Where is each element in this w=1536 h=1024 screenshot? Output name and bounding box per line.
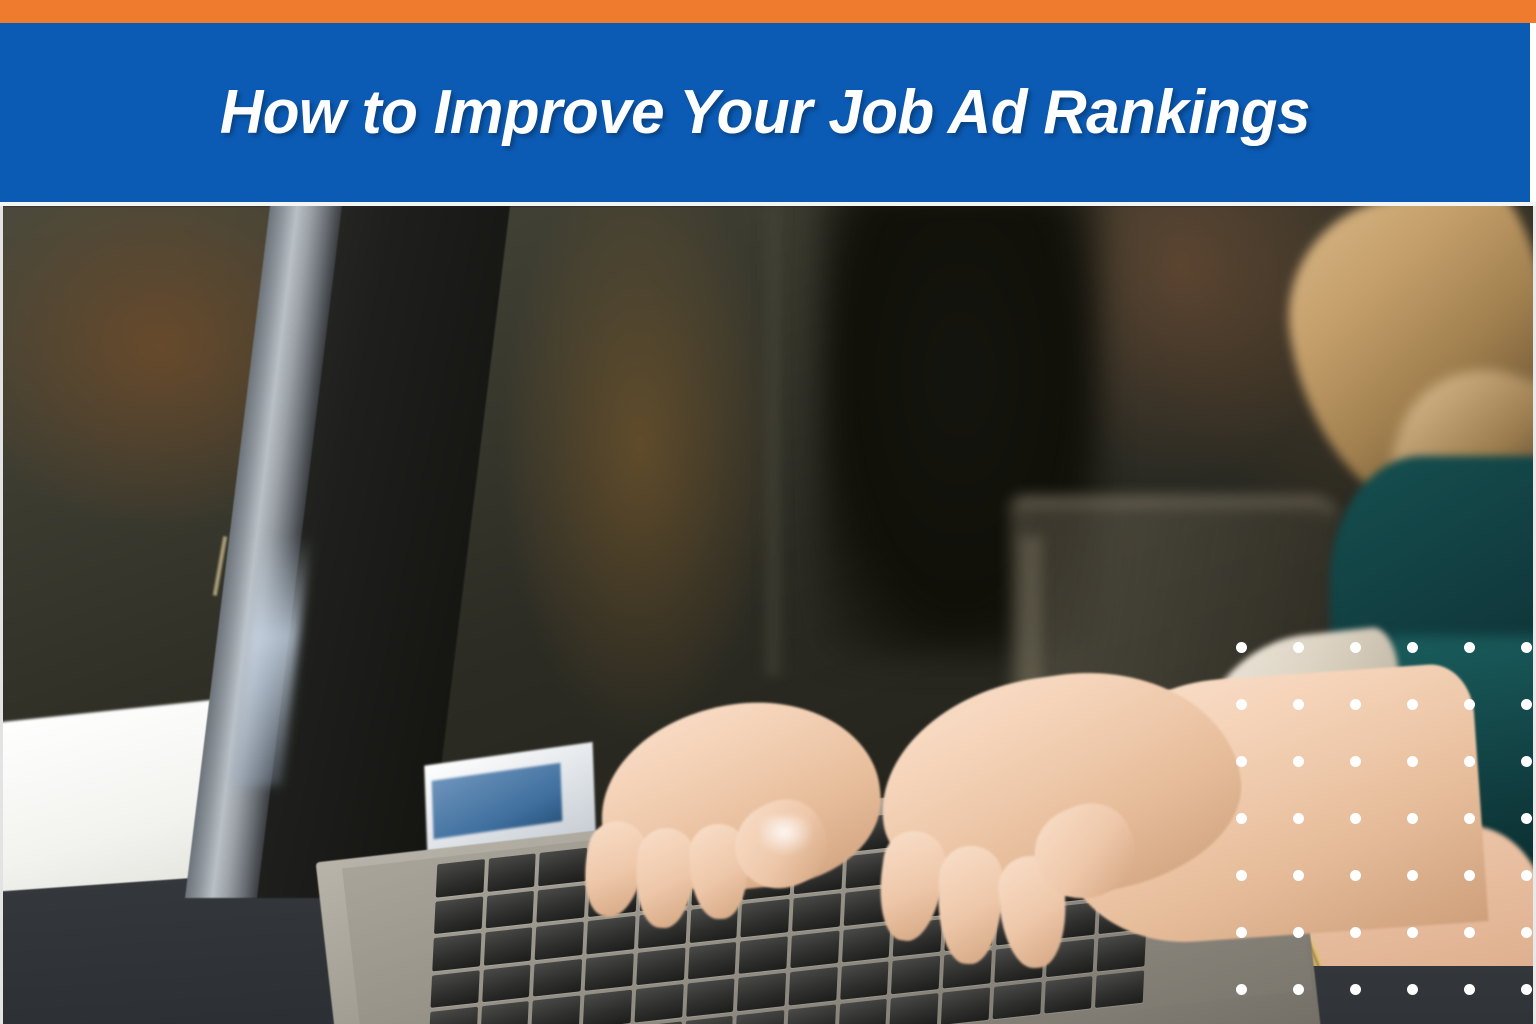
title-banner: How to Improve Your Job Ad Rankings bbox=[0, 23, 1530, 202]
grid-dot bbox=[1407, 699, 1418, 710]
grid-dot bbox=[1407, 927, 1418, 938]
grid-dot bbox=[1293, 813, 1304, 824]
grid-dot bbox=[1293, 927, 1304, 938]
graphic-canvas: How to Improve Your Job Ad Rankings bbox=[0, 0, 1536, 1024]
grid-dot bbox=[1350, 699, 1361, 710]
hero-photo: Desert Dental Staffing bbox=[0, 206, 1536, 1024]
grid-dot bbox=[1293, 699, 1304, 710]
grid-dot bbox=[1464, 699, 1475, 710]
grid-dot bbox=[1293, 642, 1304, 653]
grid-dot bbox=[1521, 699, 1532, 710]
grid-dot bbox=[1236, 984, 1247, 995]
dot-grid-overlay bbox=[1236, 642, 1536, 1024]
background-pole bbox=[760, 206, 786, 676]
grid-dot bbox=[1236, 870, 1247, 881]
grid-dot bbox=[1521, 813, 1532, 824]
page-title: How to Improve Your Job Ad Rankings bbox=[220, 77, 1310, 148]
top-accent-bar bbox=[0, 0, 1536, 23]
grid-dot bbox=[1407, 642, 1418, 653]
grid-dot bbox=[1236, 642, 1247, 653]
grid-dot bbox=[1407, 984, 1418, 995]
grid-dot bbox=[1236, 927, 1247, 938]
grid-dot bbox=[1521, 756, 1532, 767]
grid-dot bbox=[1350, 756, 1361, 767]
thumb-highlight bbox=[760, 816, 814, 856]
grid-dot bbox=[1236, 699, 1247, 710]
photo-left-border bbox=[0, 206, 3, 1024]
grid-dot bbox=[1407, 756, 1418, 767]
grid-dot bbox=[1407, 870, 1418, 881]
grid-dot bbox=[1350, 813, 1361, 824]
grid-dot bbox=[1407, 813, 1418, 824]
grid-dot bbox=[1350, 984, 1361, 995]
grid-dot bbox=[1293, 984, 1304, 995]
grid-dot bbox=[1236, 756, 1247, 767]
grid-dot bbox=[1521, 870, 1532, 881]
grid-dot bbox=[1521, 642, 1532, 653]
grid-dot bbox=[1236, 813, 1247, 824]
grid-dot bbox=[1464, 984, 1475, 995]
grid-dot bbox=[1293, 756, 1304, 767]
grid-dot bbox=[1350, 927, 1361, 938]
grid-dot bbox=[1464, 870, 1475, 881]
grid-dot bbox=[1464, 756, 1475, 767]
grid-dot bbox=[1350, 870, 1361, 881]
grid-dot bbox=[1464, 927, 1475, 938]
grid-dot bbox=[1350, 642, 1361, 653]
grid-dot bbox=[1521, 927, 1532, 938]
grid-dot bbox=[1464, 642, 1475, 653]
grid-dot bbox=[1521, 984, 1532, 995]
grid-dot bbox=[1293, 870, 1304, 881]
grid-dot bbox=[1464, 813, 1475, 824]
